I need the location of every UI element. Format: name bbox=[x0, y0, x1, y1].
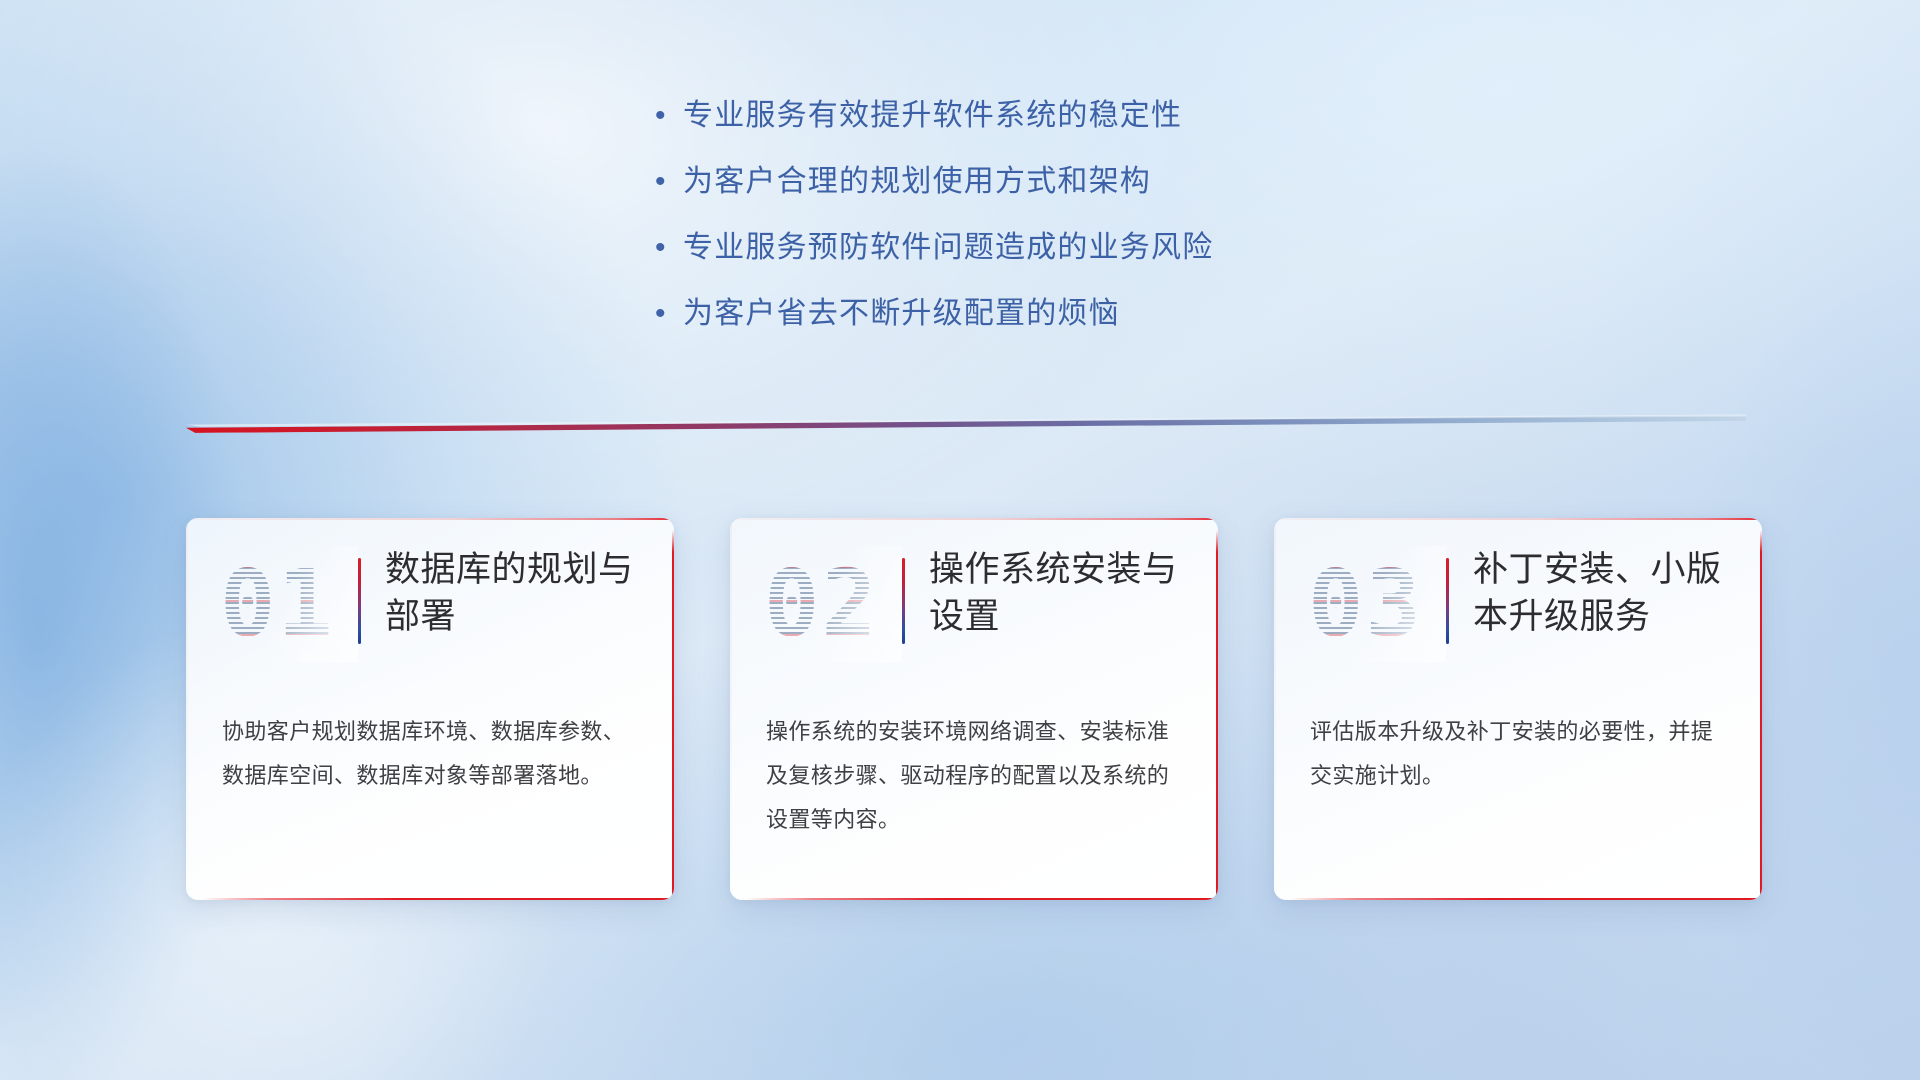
card-number-watermark: 03 03 bbox=[1308, 552, 1440, 656]
card-number-red-streaks: 01 bbox=[220, 552, 352, 656]
bullet-dot-icon: • bbox=[655, 162, 683, 202]
card-number-watermark: 01 01 bbox=[220, 552, 352, 656]
benefits-bullet-list: • 专业服务有效提升软件系统的稳定性 • 为客户合理的规划使用方式和架构 • 专… bbox=[655, 96, 1415, 360]
slide-canvas: • 专业服务有效提升软件系统的稳定性 • 为客户合理的规划使用方式和架构 • 专… bbox=[0, 0, 1920, 1080]
bullet-dot-icon: • bbox=[655, 96, 683, 136]
service-card-03[interactable]: 03 03 补丁安装、小版本升级服务 评估版本升级及补丁安装的必要性，并提交实施… bbox=[1274, 518, 1762, 900]
card-number-red-streaks: 02 bbox=[764, 552, 896, 656]
card-edge-bottom bbox=[1290, 898, 1762, 901]
card-body-text: 评估版本升级及补丁安装的必要性，并提交实施计划。 bbox=[1310, 710, 1726, 798]
list-item: • 专业服务预防软件问题造成的业务风险 bbox=[655, 228, 1415, 280]
bullet-text: 为客户合理的规划使用方式和架构 bbox=[683, 162, 1151, 202]
card-edge-right bbox=[672, 530, 675, 898]
card-edge-left bbox=[1274, 518, 1276, 886]
bullet-text: 专业服务预防软件问题造成的业务风险 bbox=[683, 228, 1213, 268]
card-accent-rule bbox=[1446, 558, 1449, 644]
card-edge-left bbox=[730, 518, 732, 886]
card-body-text: 协助客户规划数据库环境、数据库参数、数据库空间、数据库对象等部署落地。 bbox=[222, 710, 638, 798]
card-header: 01 01 数据库的规划与部署 bbox=[220, 546, 648, 656]
bullet-text: 专业服务有效提升软件系统的稳定性 bbox=[683, 96, 1182, 136]
list-item: • 为客户省去不断升级配置的烦恼 bbox=[655, 294, 1415, 346]
list-item: • 为客户合理的规划使用方式和架构 bbox=[655, 162, 1415, 214]
service-card-02[interactable]: 02 02 操作系统安装与设置 操作系统的安装环境网络调查、安装标准及复核步骤、… bbox=[730, 518, 1218, 900]
card-number-red-streaks: 03 bbox=[1308, 552, 1440, 656]
card-accent-rule bbox=[902, 558, 905, 644]
card-body-text: 操作系统的安装环境网络调查、安装标准及复核步骤、驱动程序的配置以及系统的设置等内… bbox=[766, 710, 1182, 842]
card-title: 数据库的规划与部署 bbox=[385, 546, 648, 640]
card-edge-bottom bbox=[746, 898, 1218, 901]
card-edge-top bbox=[186, 518, 672, 520]
section-divider bbox=[186, 418, 1746, 444]
card-header: 02 02 操作系统安装与设置 bbox=[764, 546, 1192, 656]
card-edge-bottom bbox=[202, 898, 674, 901]
card-header: 03 03 补丁安装、小版本升级服务 bbox=[1308, 546, 1736, 656]
card-title: 操作系统安装与设置 bbox=[929, 546, 1192, 640]
bullet-text: 为客户省去不断升级配置的烦恼 bbox=[683, 294, 1120, 334]
card-edge-top bbox=[1274, 518, 1760, 520]
service-cards-row: 01 01 数据库的规划与部署 协助客户规划数据库环境、数据库参数、数据库空间、… bbox=[186, 518, 1764, 900]
card-edge-top bbox=[730, 518, 1216, 520]
list-item: • 专业服务有效提升软件系统的稳定性 bbox=[655, 96, 1415, 148]
bullet-dot-icon: • bbox=[655, 294, 683, 334]
card-edge-right bbox=[1216, 530, 1219, 898]
card-number-watermark: 02 02 bbox=[764, 552, 896, 656]
card-edge-right bbox=[1760, 530, 1763, 898]
card-edge-left bbox=[186, 518, 188, 886]
service-card-01[interactable]: 01 01 数据库的规划与部署 协助客户规划数据库环境、数据库参数、数据库空间、… bbox=[186, 518, 674, 900]
card-title: 补丁安装、小版本升级服务 bbox=[1473, 546, 1736, 640]
card-accent-rule bbox=[358, 558, 361, 644]
bullet-dot-icon: • bbox=[655, 228, 683, 268]
